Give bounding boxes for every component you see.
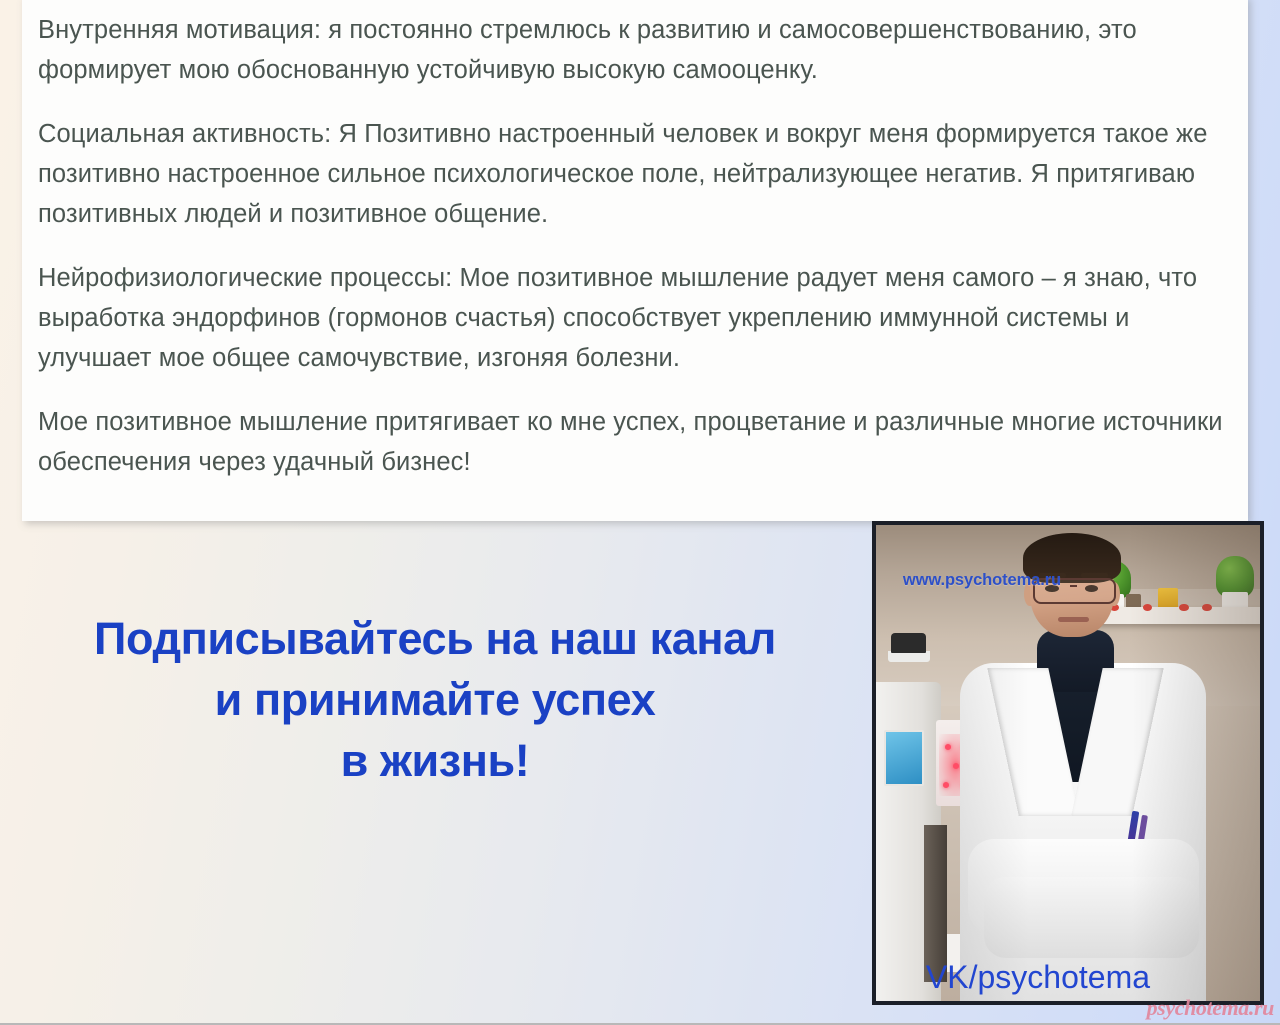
site-watermark: psychotema.ru	[1147, 995, 1274, 1021]
medical-device-cap	[891, 633, 926, 653]
website-url-overlay: www.psychotema.ru	[903, 571, 1061, 590]
lab-coat-shading	[960, 663, 1206, 1001]
paragraph-social-activity: Социальная активность: Я Позитивно настр…	[38, 114, 1234, 234]
call-to-action-headline: Подписывайтесь на наш канал и принимайте…	[30, 608, 840, 791]
headline-line-2: и принимайте успех	[30, 669, 840, 730]
paragraph-neurophysiology: Нейрофизиологические процессы: Мое позит…	[38, 258, 1234, 378]
paragraph-positive-thinking: Мое позитивное мышление притягивает ко м…	[38, 402, 1234, 482]
text-panel: Внутренняя мотивация: я постоянно стремл…	[22, 0, 1248, 521]
medical-device-screen	[884, 730, 924, 786]
eyebrow-right	[1081, 573, 1108, 578]
text-panel-content: Внутренняя мотивация: я постоянно стремл…	[38, 10, 1234, 482]
headline-line-1: Подписывайтесь на наш канал	[30, 608, 840, 669]
glasses-bridge	[1070, 585, 1078, 587]
mouth	[1058, 617, 1089, 621]
vk-handle-overlay: VK/psychotema	[926, 959, 1150, 996]
slide-canvas: Внутренняя мотивация: я постоянно стремл…	[0, 0, 1280, 1025]
presenter-photo: www.psychotema.ru VK/psychotema	[872, 521, 1264, 1005]
laser-dot	[943, 782, 949, 788]
paragraph-internal-motivation: Внутренняя мотивация: я постоянно стремл…	[38, 10, 1234, 90]
laser-dot	[945, 744, 951, 750]
headline-line-3: в жизнь!	[30, 730, 840, 791]
laser-dot	[953, 763, 959, 769]
